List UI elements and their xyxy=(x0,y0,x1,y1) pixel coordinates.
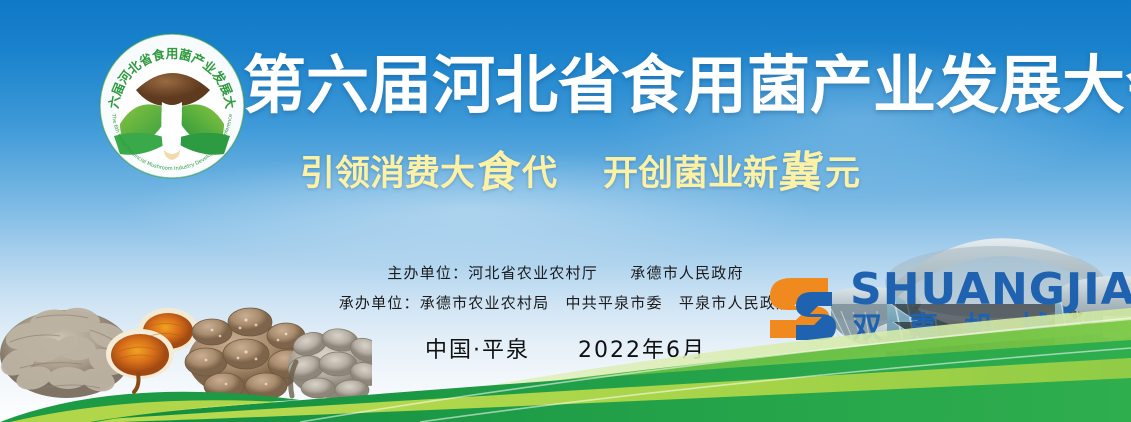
slogan-right: 开创菌业新冀元 xyxy=(603,136,860,198)
slogan-left-suffix: 代 xyxy=(522,153,557,194)
slogan-right-prefix: 开创菌业新 xyxy=(603,153,778,194)
slogan-right-suffix: 元 xyxy=(825,153,860,194)
bottom-green-waves xyxy=(0,302,1131,422)
conference-banner: 第六届河北省食用菌产业发展大会 The 6th Hebei Provincial… xyxy=(0,0,1131,422)
slogan-right-accent: 冀 xyxy=(775,138,829,200)
banner-slogan: 引领消费大食代 开创菌业新冀元 xyxy=(300,142,860,192)
slogan-left: 引领消费大食代 xyxy=(300,136,557,198)
host-line: 主办单位：河北省农业农村厅 承德市人民政府 xyxy=(387,258,743,288)
banner-title: 第六届河北省食用菌产业发展大会 xyxy=(243,48,1043,122)
slogan-left-accent: 食 xyxy=(472,138,526,200)
slogan-left-prefix: 引领消费大 xyxy=(300,153,475,194)
conference-emblem: 第六届河北省食用菌产业发展大会 The 6th Hebei Provincial… xyxy=(98,32,246,180)
